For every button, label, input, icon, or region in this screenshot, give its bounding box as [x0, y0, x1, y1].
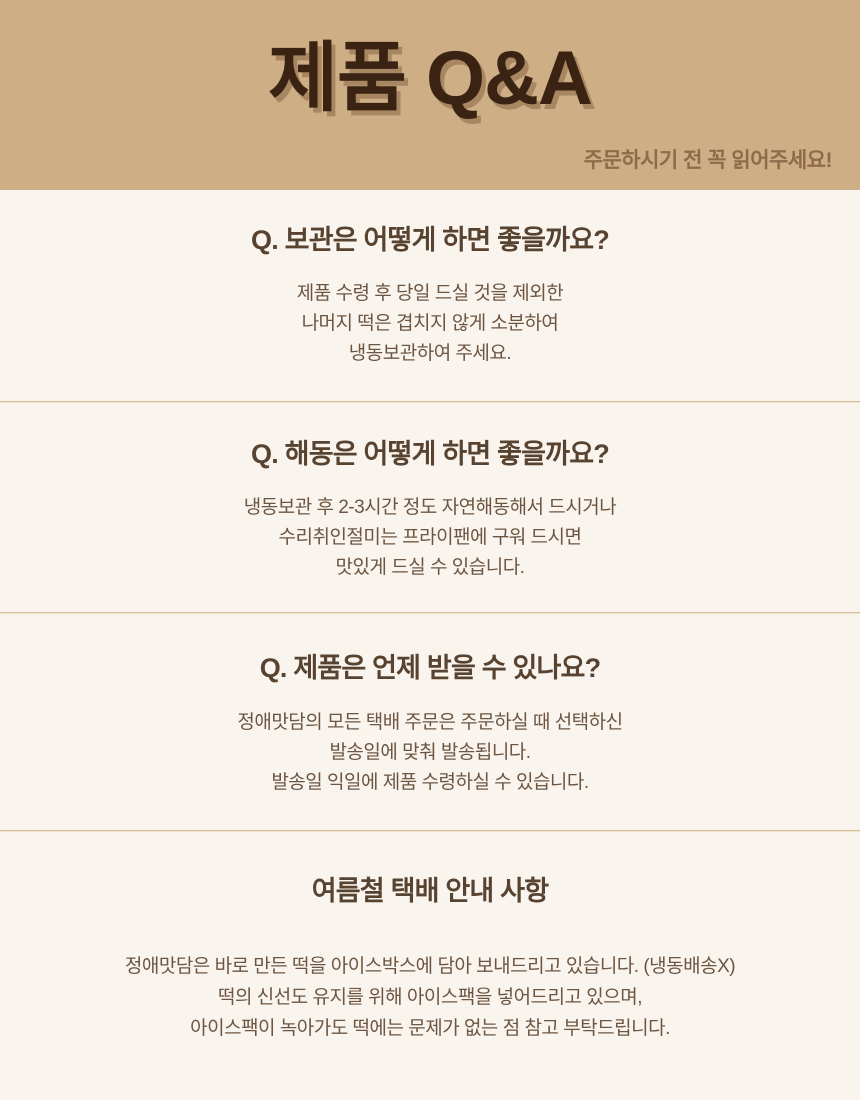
- question-heading: Q. 제품은 언제 받을 수 있나요?: [0, 651, 860, 685]
- answer-line: 냉동보관하여 주세요.: [0, 339, 860, 369]
- answer-body: 제품 수령 후 당일 드실 것을 제외한 나머지 떡은 겹치지 않게 소분하여 …: [0, 279, 860, 369]
- notice-line: 떡의 신선도 유지를 위해 아이스팩을 넣어드리고 있으며,: [0, 982, 860, 1013]
- answer-body: 냉동보관 후 2-3시간 정도 자연해동해서 드시거나 수리취인절미는 프라이팬…: [0, 493, 860, 583]
- page-title: 제품 Q&A: [0, 38, 860, 120]
- notice-heading: 여름철 택배 안내 사항: [0, 874, 860, 908]
- notice-body: 정애맛담은 바로 만든 떡을 아이스박스에 담아 보내드리고 있습니다. (냉동…: [0, 951, 860, 1044]
- qa-section-storage: Q. 보관은 어떻게 하면 좋을까요? 제품 수령 후 당일 드실 것을 제외한…: [0, 190, 860, 369]
- product-qa-page: 제품 Q&A 주문하시기 전 꼭 읽어주세요! Q. 보관은 어떻게 하면 좋을…: [0, 0, 860, 1100]
- notice-line: 정애맛담은 바로 만든 떡을 아이스박스에 담아 보내드리고 있습니다. (냉동…: [0, 951, 860, 982]
- qa-section-thawing: Q. 해동은 어떻게 하면 좋을까요? 냉동보관 후 2-3시간 정도 자연해동…: [0, 403, 860, 583]
- answer-line: 발송일에 맞춰 발송됩니다.: [0, 738, 860, 768]
- notice-line: 아이스팩이 녹아가도 떡에는 문제가 없는 점 참고 부탁드립니다.: [0, 1013, 860, 1044]
- summer-delivery-notice-section: 여름철 택배 안내 사항 정애맛담은 바로 만든 떡을 아이스박스에 담아 보내…: [0, 832, 860, 1044]
- answer-line: 맛있게 드실 수 있습니다.: [0, 553, 860, 583]
- answer-line: 제품 수령 후 당일 드실 것을 제외한: [0, 279, 860, 309]
- page-header-banner: 제품 Q&A 주문하시기 전 꼭 읽어주세요!: [0, 0, 860, 190]
- answer-line: 정애맛담의 모든 택배 주문은 주문하실 때 선택하신: [0, 708, 860, 738]
- answer-body: 정애맛담의 모든 택배 주문은 주문하실 때 선택하신 발송일에 맞춰 발송됩니…: [0, 708, 860, 798]
- header-content: 제품 Q&A 주문하시기 전 꼭 읽어주세요!: [0, 0, 860, 190]
- answer-line: 냉동보관 후 2-3시간 정도 자연해동해서 드시거나: [0, 493, 860, 523]
- question-heading: Q. 해동은 어떻게 하면 좋을까요?: [0, 437, 860, 471]
- header-subtitle: 주문하시기 전 꼭 읽어주세요!: [584, 148, 832, 174]
- answer-line: 수리취인절미는 프라이팬에 구워 드시면: [0, 523, 860, 553]
- answer-line: 나머지 떡은 겹치지 않게 소분하여: [0, 309, 860, 339]
- question-heading: Q. 보관은 어떻게 하면 좋을까요?: [0, 223, 860, 257]
- answer-line: 발송일 익일에 제품 수령하실 수 있습니다.: [0, 768, 860, 798]
- qa-section-delivery-time: Q. 제품은 언제 받을 수 있나요? 정애맛담의 모든 택배 주문은 주문하실…: [0, 614, 860, 798]
